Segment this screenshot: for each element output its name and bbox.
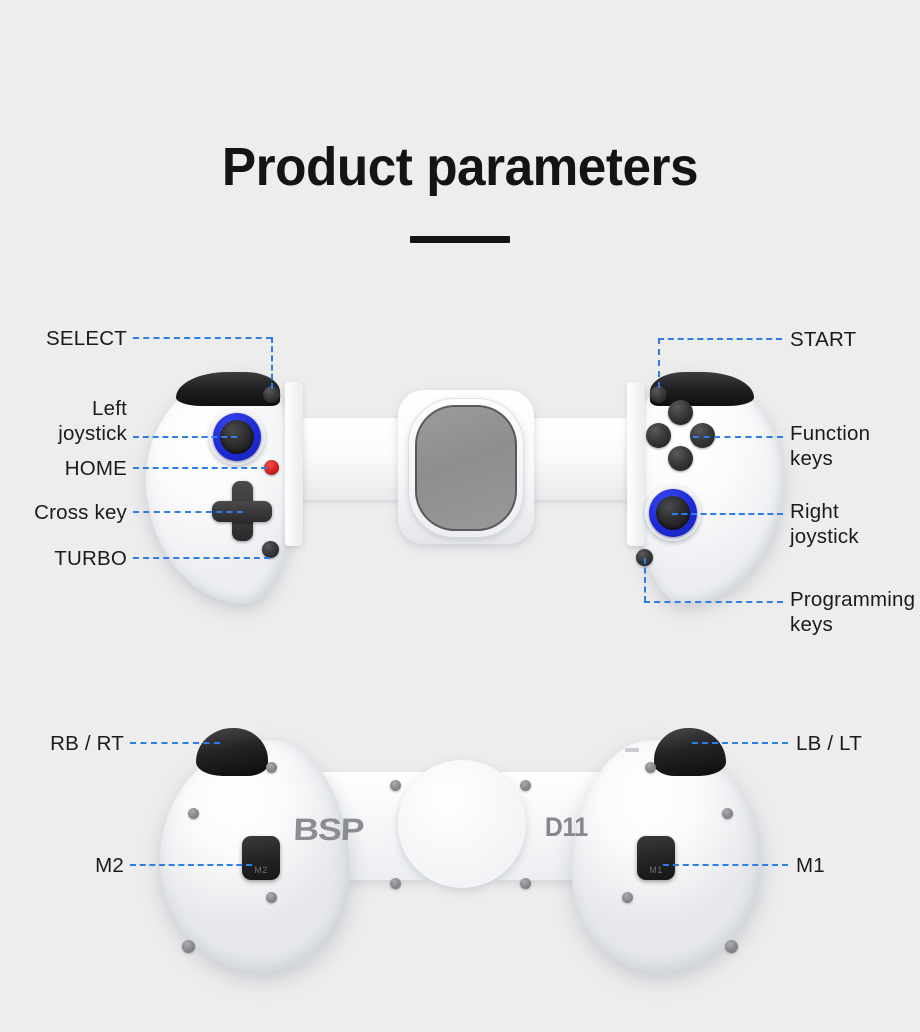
leader-cross-key <box>133 511 243 513</box>
leader-start-horizontal <box>658 338 782 340</box>
leader-select-horizontal <box>133 337 272 339</box>
leader-select-vertical <box>271 337 273 389</box>
turbo-button[interactable] <box>262 541 279 558</box>
function-key-top[interactable] <box>668 400 693 425</box>
leader-lb-lt <box>692 742 788 744</box>
leader-rb-rt <box>130 742 220 744</box>
screw-left-2 <box>188 808 199 819</box>
label-home: HOME <box>0 456 127 481</box>
leader-home <box>133 467 267 469</box>
screw-right-2 <box>722 808 733 819</box>
screw-left-5 <box>390 780 401 791</box>
page-title: Product parameters <box>23 136 897 198</box>
leader-m1 <box>663 864 788 866</box>
right-grip-rail <box>627 382 645 546</box>
product-parameters-page: Product parameters SELECT L <box>0 0 920 1032</box>
label-rb-rt: RB / RT <box>0 731 124 756</box>
label-function-keys: Function keys <box>790 421 920 471</box>
label-left-joystick: Left joystick <box>0 396 127 446</box>
leader-programming-horizontal <box>644 601 783 603</box>
brand-logo-bsp: BSP <box>293 812 364 848</box>
m2-key-label: M2 <box>242 865 280 875</box>
vent-mark <box>625 748 639 752</box>
screw-right-3 <box>622 892 633 903</box>
m2-macro-key[interactable]: M2 <box>242 836 280 880</box>
m1-key-label: M1 <box>637 865 675 875</box>
screw-right-4 <box>725 940 738 953</box>
leader-function-keys <box>693 436 783 438</box>
screw-left-3 <box>266 892 277 903</box>
label-right-joystick: Right joystick <box>790 499 920 549</box>
title-underline-rule <box>410 236 510 243</box>
m1-macro-key[interactable]: M1 <box>637 836 675 880</box>
screw-right-1 <box>645 762 656 773</box>
lb-lt-trigger[interactable] <box>654 728 726 776</box>
rb-rt-trigger[interactable] <box>196 728 268 776</box>
start-button[interactable] <box>650 386 667 403</box>
label-start: START <box>790 327 920 352</box>
label-m2: M2 <box>0 853 124 878</box>
label-lb-lt: LB / LT <box>796 731 920 756</box>
leader-right-joystick <box>672 513 783 515</box>
label-programming-keys: Programming keys <box>790 587 920 637</box>
leader-left-joystick <box>133 436 237 438</box>
leader-start-vertical <box>658 338 660 388</box>
screw-right-5 <box>520 780 531 791</box>
label-m1: M1 <box>796 853 920 878</box>
leader-programming-vertical <box>644 558 646 602</box>
screw-left-4 <box>182 940 195 953</box>
label-cross-key: Cross key <box>0 500 127 525</box>
screw-right-6 <box>520 878 531 889</box>
leader-turbo <box>133 557 270 559</box>
phone-cradle-pad <box>415 405 517 531</box>
label-turbo: TURBO <box>0 546 127 571</box>
label-select: SELECT <box>0 326 127 351</box>
screw-left-1 <box>266 762 277 773</box>
right-grip-body <box>632 372 784 604</box>
back-center-disc <box>398 760 526 888</box>
function-key-left[interactable] <box>646 423 671 448</box>
left-grip-rail <box>285 382 303 546</box>
leader-m2 <box>130 864 252 866</box>
function-key-bottom[interactable] <box>668 446 693 471</box>
model-name-d11: D11 <box>545 812 588 843</box>
screw-left-6 <box>390 878 401 889</box>
